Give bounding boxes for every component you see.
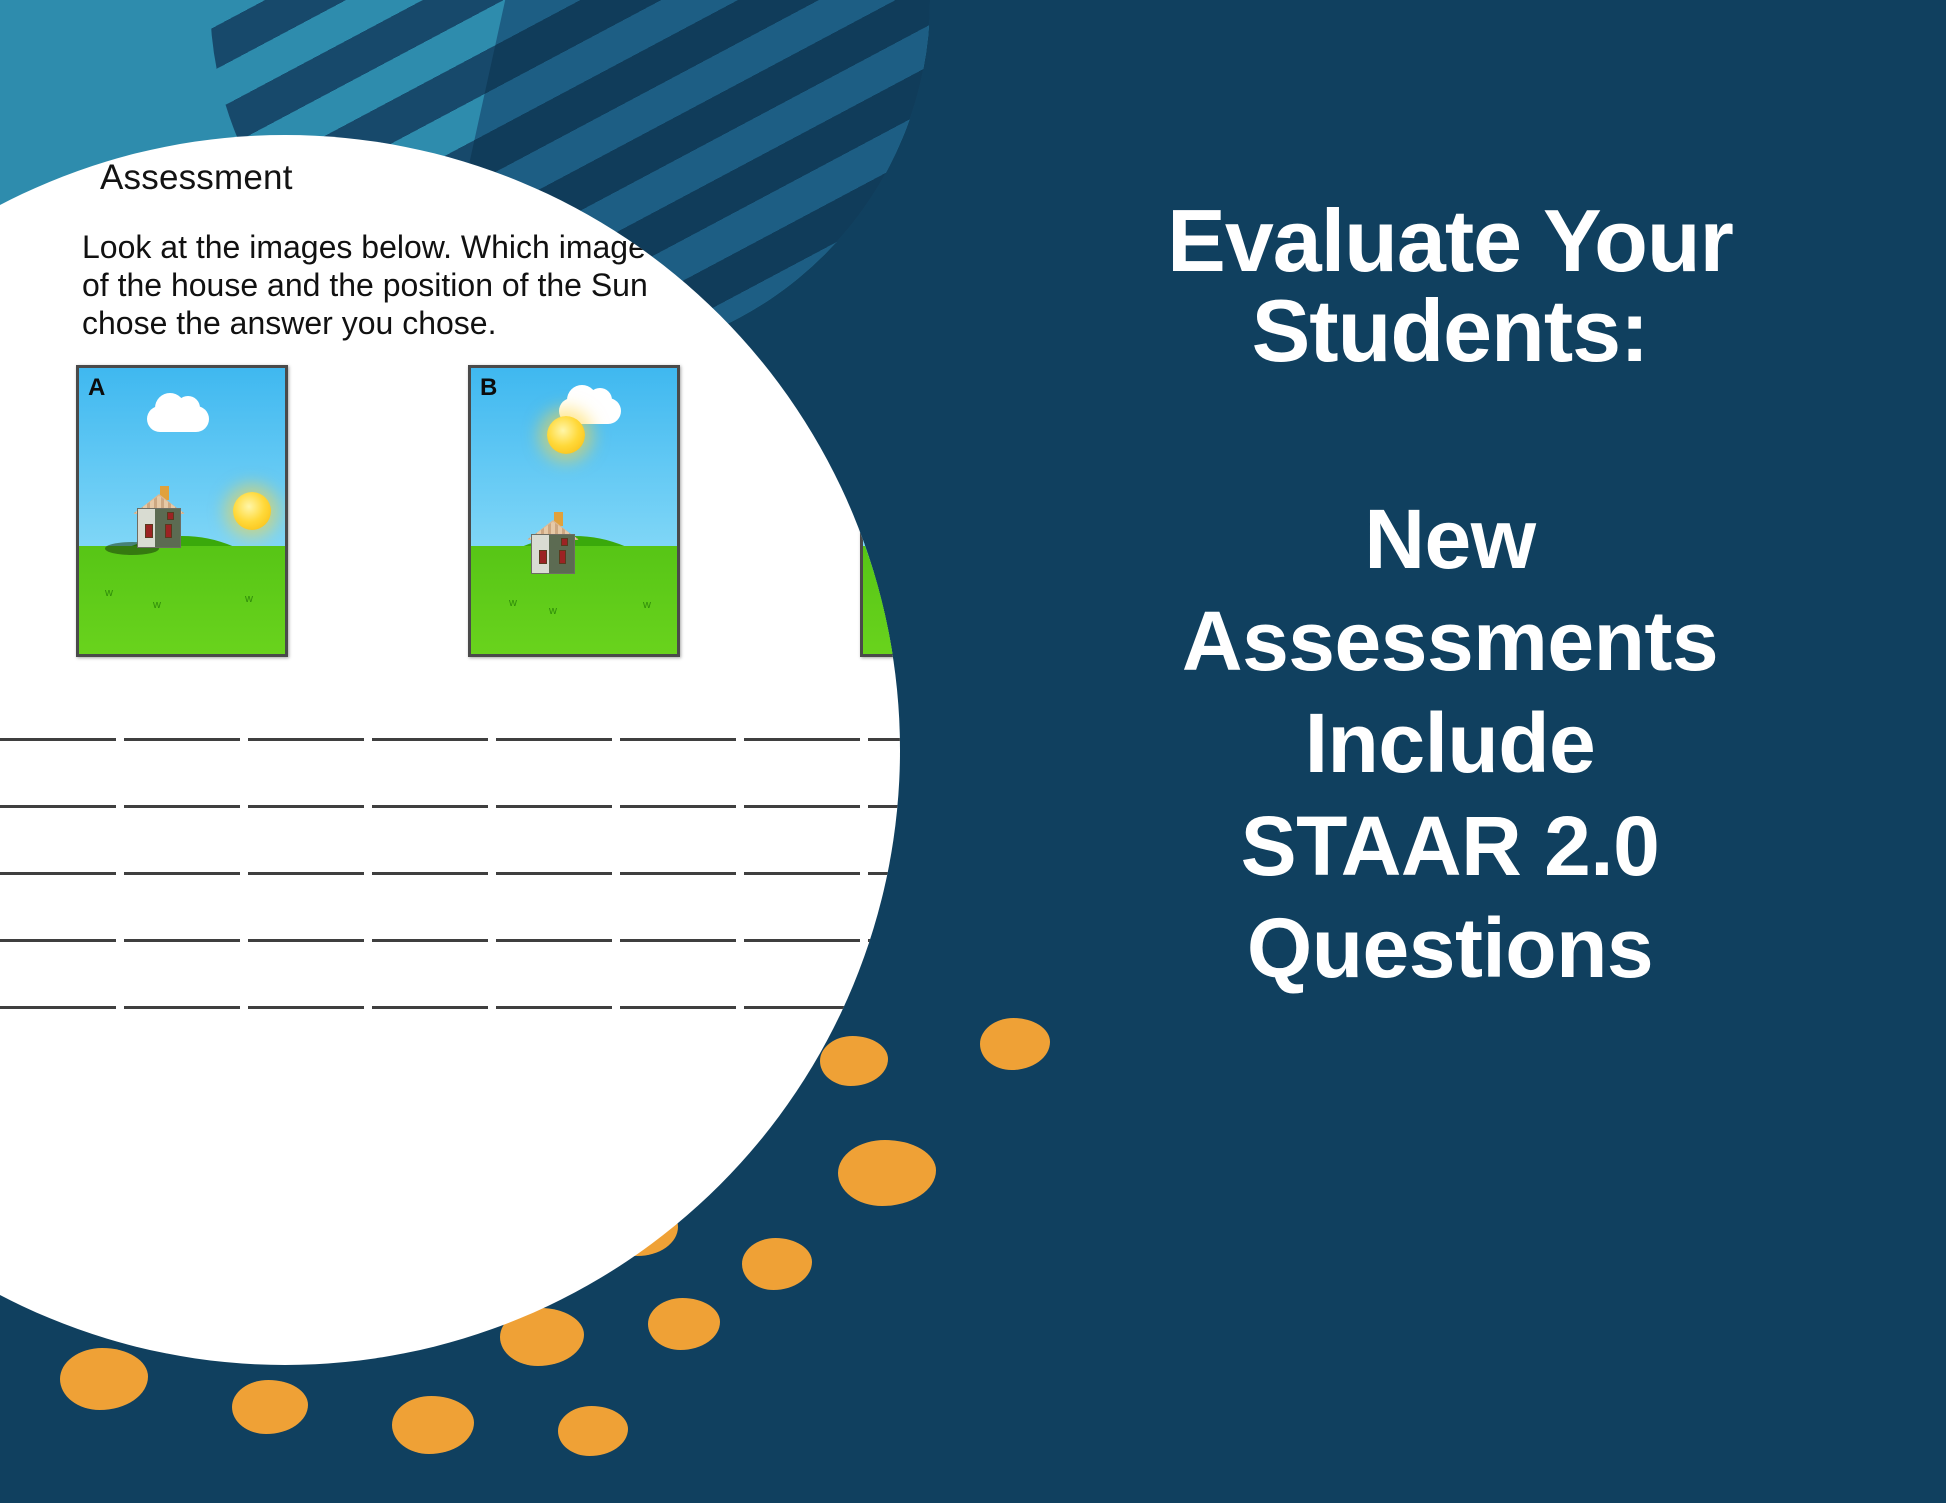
ground-shape (863, 546, 900, 654)
house-illustration (521, 508, 585, 574)
answer-line (0, 939, 900, 942)
house-body (531, 534, 575, 574)
promo-subheadline: New Assessments Include STAAR 2.0 Questi… (980, 488, 1920, 1000)
grass-tuft: w (245, 594, 253, 605)
promo-headline: Evaluate Your Students: (980, 196, 1920, 376)
window-shape (561, 538, 568, 546)
sub-line-5: Questions (980, 897, 1920, 999)
worksheet-content: Assessment Look at the images below. Whi… (0, 135, 900, 1365)
window-shape (167, 512, 174, 520)
cloud-icon (147, 406, 209, 432)
window-shape (165, 524, 172, 538)
panel-letter-c: C (872, 374, 889, 402)
answer-line (0, 872, 900, 875)
sub-line-1: New (980, 488, 1920, 590)
grass-tuft: w (643, 600, 651, 611)
dot (392, 1396, 474, 1454)
headline-line-1: Evaluate Your (980, 196, 1920, 286)
dot (980, 1018, 1050, 1070)
dot (558, 1406, 628, 1456)
promo-graphic: Assessment Look at the images below. Whi… (0, 0, 1946, 1503)
answer-line (0, 1006, 900, 1009)
worksheet-title: Assessment (100, 158, 293, 198)
house-illustration (127, 482, 191, 548)
window-shape (145, 524, 153, 538)
grass-tuft: ᴡ (549, 606, 557, 617)
answer-panel-c[interactable]: C (860, 365, 900, 657)
answer-line (0, 805, 900, 808)
answer-panel-a[interactable]: w ᴡ w A (76, 365, 288, 657)
instruction-line-2: of the house and the position of the Sun (82, 266, 900, 304)
ground-shape (79, 546, 285, 654)
window-shape (539, 550, 547, 564)
worksheet-instructions: Look at the images below. Which image of… (82, 228, 900, 342)
promo-text-block: Evaluate Your Students: New Assessments … (980, 196, 1920, 1000)
headline-line-2: Students: (980, 286, 1920, 376)
worksheet-circle-crop: Assessment Look at the images below. Whi… (0, 135, 900, 1365)
house-body (137, 508, 181, 548)
panel-letter-a: A (88, 374, 105, 402)
answer-panel-b[interactable]: w ᴡ w B (468, 365, 680, 657)
instruction-line-3: chose the answer you chose. (82, 304, 900, 342)
sub-line-4: STAAR 2.0 (980, 795, 1920, 897)
sub-line-2: Assessments (980, 590, 1920, 692)
dot (232, 1380, 308, 1434)
grass-tuft: w (509, 598, 517, 609)
window-shape (559, 550, 566, 564)
sun-icon (547, 416, 585, 454)
sun-icon (233, 492, 271, 530)
grass-tuft: ᴡ (153, 600, 161, 611)
panel-letter-b: B (480, 374, 497, 402)
instruction-line-1: Look at the images below. Which image (82, 228, 900, 266)
sub-line-3: Include (980, 692, 1920, 794)
answer-line (0, 738, 900, 741)
grass-tuft: w (105, 588, 113, 599)
